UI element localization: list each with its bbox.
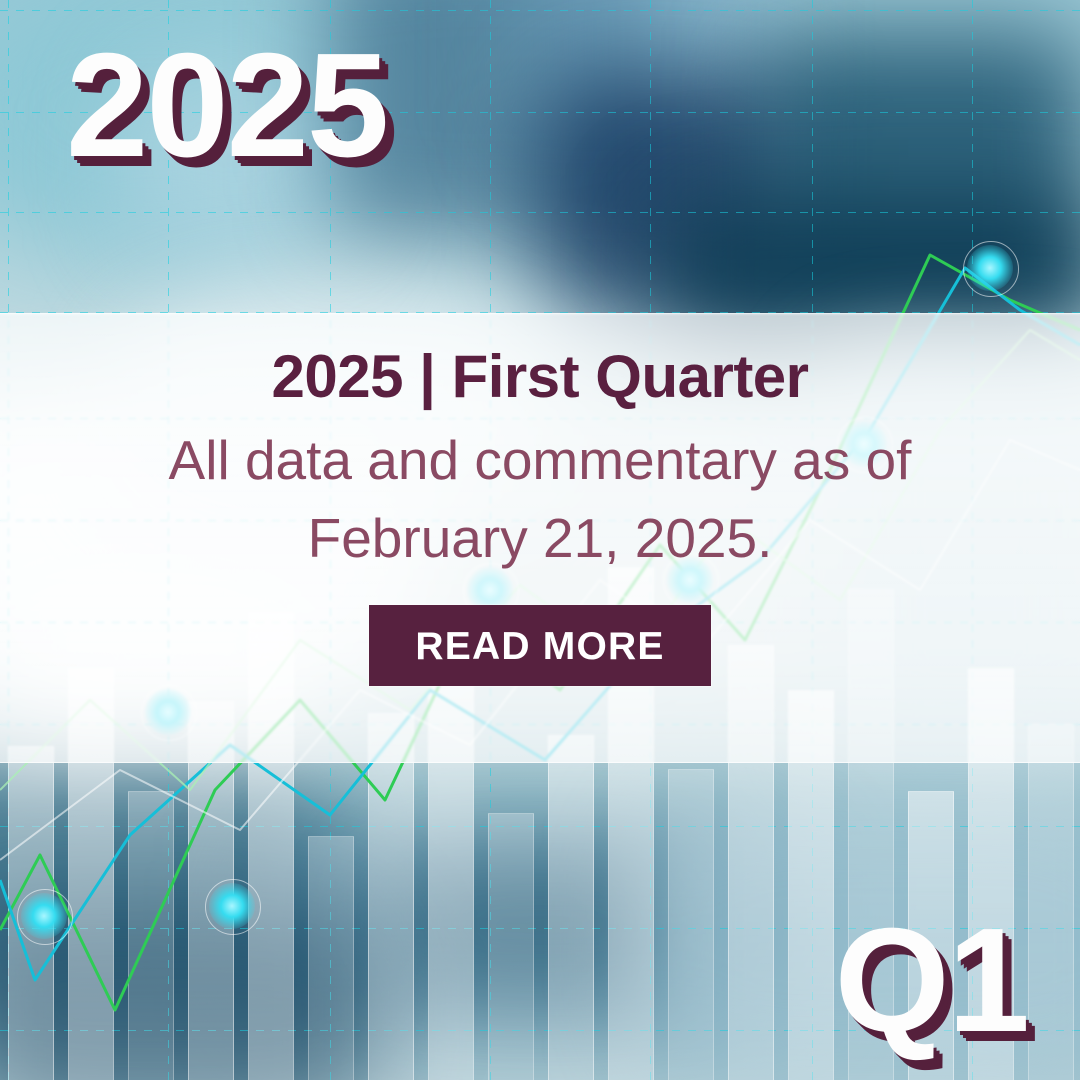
info-panel: 2025 | First Quarter All data and commen… [0, 313, 1080, 763]
chart-node-ring [205, 879, 261, 935]
chart-node-ring [963, 241, 1019, 297]
panel-subtitle: All data and commentary as of February 2… [90, 407, 990, 577]
corner-year-label: 2025 [66, 36, 387, 177]
read-more-button[interactable]: READ MORE [369, 605, 710, 686]
panel-bottom-divider [0, 762, 1080, 763]
chart-node-ring [17, 889, 73, 945]
quarterly-report-card: 2025 2025 | First Quarter All data and c… [0, 0, 1080, 1080]
page-title: 2025 | First Quarter [271, 313, 808, 407]
corner-quarter-label: Q1 [835, 911, 1028, 1052]
